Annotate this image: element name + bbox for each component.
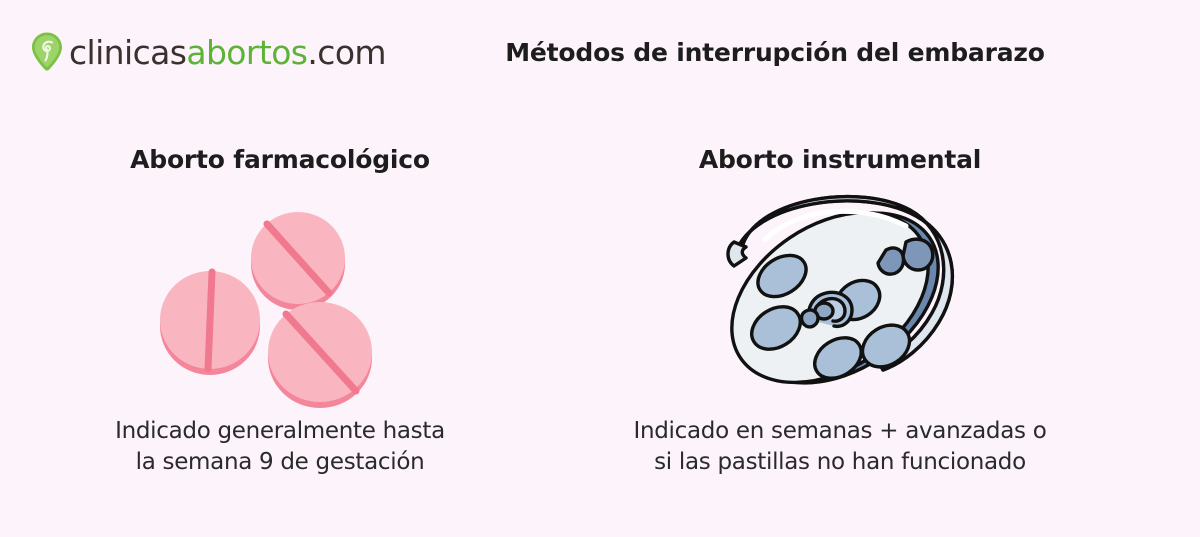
caption-line-2: la semana 9 de gestación (20, 447, 540, 478)
panel-caption-instrumental: Indicado en semanas + avanzadas o si las… (580, 416, 1100, 477)
surgical-lamp-icon (710, 180, 970, 410)
pills-illustration-wrapper (20, 180, 540, 410)
page-title: Métodos de interrupción del embarazo (0, 38, 1200, 67)
caption-line-1: Indicado en semanas + avanzadas o (580, 416, 1100, 447)
lamp-illustration-wrapper (580, 180, 1100, 410)
panel-heading-instrumental: Aborto instrumental (580, 140, 1100, 180)
panel-instrumental-abortion: Aborto instrumental (580, 140, 1100, 510)
caption-line-1: Indicado generalmente hasta (20, 416, 540, 447)
pill-top (251, 212, 345, 310)
pill-bottom (268, 302, 372, 408)
caption-line-2: si las pastillas no han funcionado (580, 447, 1100, 478)
three-pink-pills-illustration (130, 180, 430, 410)
panel-caption-pharmacological: Indicado generalmente hasta la semana 9 … (20, 416, 540, 477)
panel-heading-pharmacological: Aborto farmacológico (20, 140, 540, 180)
panel-pharmacological-abortion: Aborto farmacológico (20, 140, 540, 510)
pill-left (160, 271, 260, 375)
infographic-canvas: clinicasabortos.com Métodos de interrupc… (0, 0, 1200, 537)
